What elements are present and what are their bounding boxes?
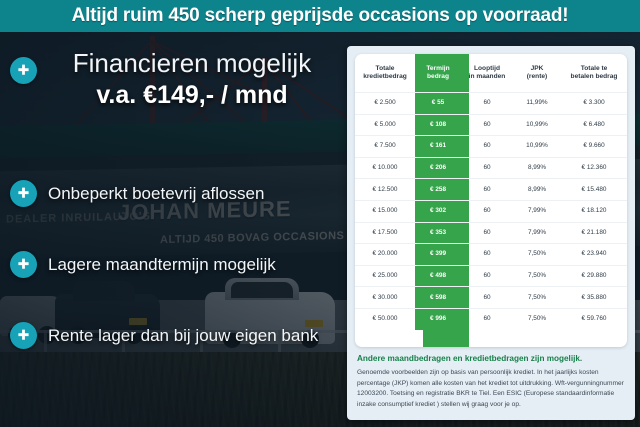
cell-kredietbedrag: € 20.000: [355, 244, 415, 266]
hero-line-2: v.a. €149,- / mnd: [46, 81, 338, 110]
left-content: Financieren mogelijk v.a. €149,- / mnd O…: [0, 32, 345, 427]
cell-totaal: € 23.940: [561, 244, 627, 266]
cell-looptijd: 60: [461, 265, 513, 287]
cell-jpk: 11,99%: [513, 93, 561, 115]
disclaimer-body: Genoemde voorbeelden zijn op basis van p…: [357, 368, 625, 411]
financing-card: Totalekredietbedrag Termijnbedrag Loopti…: [347, 46, 635, 420]
rates-table: Totalekredietbedrag Termijnbedrag Loopti…: [355, 54, 627, 330]
table-row: € 12.500€ 258608,99%€ 15.480: [355, 179, 627, 201]
plus-icon: [10, 322, 37, 349]
cell-totaal: € 29.880: [561, 265, 627, 287]
cell-totaal: € 59.760: [561, 308, 627, 329]
cell-kredietbedrag: € 25.000: [355, 265, 415, 287]
hero-line-1: Financieren mogelijk: [46, 50, 338, 77]
cell-kredietbedrag: € 17.500: [355, 222, 415, 244]
cell-jpk: 7,99%: [513, 222, 561, 244]
disclaimer-title: Andere maandbedragen en kredietbedragen …: [357, 354, 625, 363]
cell-looptijd: 60: [461, 200, 513, 222]
promo-banner: DEALER INRUILAUTO'S JOHAN MEURE ALTIJD 4…: [0, 0, 640, 427]
column-header-looptijd: Looptijdin maanden: [461, 54, 513, 93]
table-row: € 50.000€ 996607,50%€ 59.760: [355, 308, 627, 329]
cell-termijnbedrag: € 55: [415, 93, 461, 115]
cell-kredietbedrag: € 12.500: [355, 179, 415, 201]
cell-termijnbedrag: € 258: [415, 179, 461, 201]
cell-looptijd: 60: [461, 136, 513, 158]
cell-kredietbedrag: € 7.500: [355, 136, 415, 158]
cell-kredietbedrag: € 50.000: [355, 308, 415, 329]
cell-looptijd: 60: [461, 308, 513, 329]
table-row: € 20.000€ 399607,50%€ 23.940: [355, 244, 627, 266]
cell-jpk: 7,50%: [513, 308, 561, 329]
cell-totaal: € 35.880: [561, 287, 627, 309]
cell-kredietbedrag: € 15.000: [355, 200, 415, 222]
cell-looptijd: 60: [461, 114, 513, 136]
table-row: € 7.500€ 1616010,99%€ 9.660: [355, 136, 627, 158]
list-item: Rente lager dan bij jouw eigen bank: [10, 322, 345, 349]
column-header-termijn-bedrag: Termijnbedrag: [415, 54, 461, 93]
cell-jpk: 10,99%: [513, 114, 561, 136]
cell-totaal: € 6.480: [561, 114, 627, 136]
plus-icon: [10, 180, 37, 207]
cell-totaal: € 12.360: [561, 157, 627, 179]
cell-jpk: 7,99%: [513, 200, 561, 222]
cell-totaal: € 9.660: [561, 136, 627, 158]
list-item: Onbeperkt boetevrij aflossen: [10, 180, 345, 207]
cell-termijnbedrag: € 108: [415, 114, 461, 136]
cell-termijnbedrag: € 399: [415, 244, 461, 266]
cell-jpk: 7,50%: [513, 287, 561, 309]
cell-totaal: € 21.180: [561, 222, 627, 244]
rates-table-wrapper: Totalekredietbedrag Termijnbedrag Loopti…: [355, 54, 627, 347]
cell-termijnbedrag: € 353: [415, 222, 461, 244]
benefits-list: Onbeperkt boetevrij aflossen Lagere maan…: [10, 180, 345, 393]
table-header-row: Totalekredietbedrag Termijnbedrag Loopti…: [355, 54, 627, 93]
cell-jpk: 8,99%: [513, 157, 561, 179]
cell-termijnbedrag: € 996: [415, 308, 461, 329]
hero-text: Financieren mogelijk v.a. €149,- / mnd: [18, 50, 338, 110]
plus-icon: [10, 251, 37, 278]
headline-text: Altijd ruim 450 scherp geprijsde occasio…: [72, 5, 569, 27]
cell-kredietbedrag: € 2.500: [355, 93, 415, 115]
list-item: Lagere maandtermijn mogelijk: [10, 251, 345, 278]
cell-totaal: € 3.300: [561, 93, 627, 115]
rates-table-body: € 2.500€ 556011,99%€ 3.300 € 5.000€ 1086…: [355, 93, 627, 330]
column-header-totale-kredietbedrag: Totalekredietbedrag: [355, 54, 415, 93]
cell-looptijd: 60: [461, 244, 513, 266]
cell-kredietbedrag: € 5.000: [355, 114, 415, 136]
cell-looptijd: 60: [461, 93, 513, 115]
cell-looptijd: 60: [461, 157, 513, 179]
cell-jpk: 7,50%: [513, 265, 561, 287]
table-row: € 2.500€ 556011,99%€ 3.300: [355, 93, 627, 115]
cell-termijnbedrag: € 206: [415, 157, 461, 179]
cell-totaal: € 18.120: [561, 200, 627, 222]
cell-termijnbedrag: € 161: [415, 136, 461, 158]
table-row: € 25.000€ 498607,50%€ 29.880: [355, 265, 627, 287]
cell-looptijd: 60: [461, 222, 513, 244]
cell-jpk: 10,99%: [513, 136, 561, 158]
cell-termijnbedrag: € 498: [415, 265, 461, 287]
cell-jpk: 8,99%: [513, 179, 561, 201]
cell-looptijd: 60: [461, 287, 513, 309]
disclaimer: Andere maandbedragen en kredietbedragen …: [357, 354, 625, 411]
cell-totaal: € 15.480: [561, 179, 627, 201]
column-header-jpk: JPK(rente): [513, 54, 561, 93]
benefit-label: Lagere maandtermijn mogelijk: [48, 255, 276, 275]
table-row: € 30.000€ 598607,50%€ 35.880: [355, 287, 627, 309]
cell-looptijd: 60: [461, 179, 513, 201]
cell-kredietbedrag: € 10.000: [355, 157, 415, 179]
benefit-label: Rente lager dan bij jouw eigen bank: [48, 326, 318, 346]
cell-jpk: 7,50%: [513, 244, 561, 266]
table-row: € 5.000€ 1086010,99%€ 6.480: [355, 114, 627, 136]
cell-termijnbedrag: € 598: [415, 287, 461, 309]
table-row: € 10.000€ 206608,99%€ 12.360: [355, 157, 627, 179]
cell-termijnbedrag: € 302: [415, 200, 461, 222]
headline-bar: Altijd ruim 450 scherp geprijsde occasio…: [0, 0, 640, 32]
table-row: € 17.500€ 353607,99%€ 21.180: [355, 222, 627, 244]
table-row: € 15.000€ 302607,99%€ 18.120: [355, 200, 627, 222]
cell-kredietbedrag: € 30.000: [355, 287, 415, 309]
column-header-totale-te-betalen: Totale tebetalen bedrag: [561, 54, 627, 93]
benefit-label: Onbeperkt boetevrij aflossen: [48, 184, 264, 204]
